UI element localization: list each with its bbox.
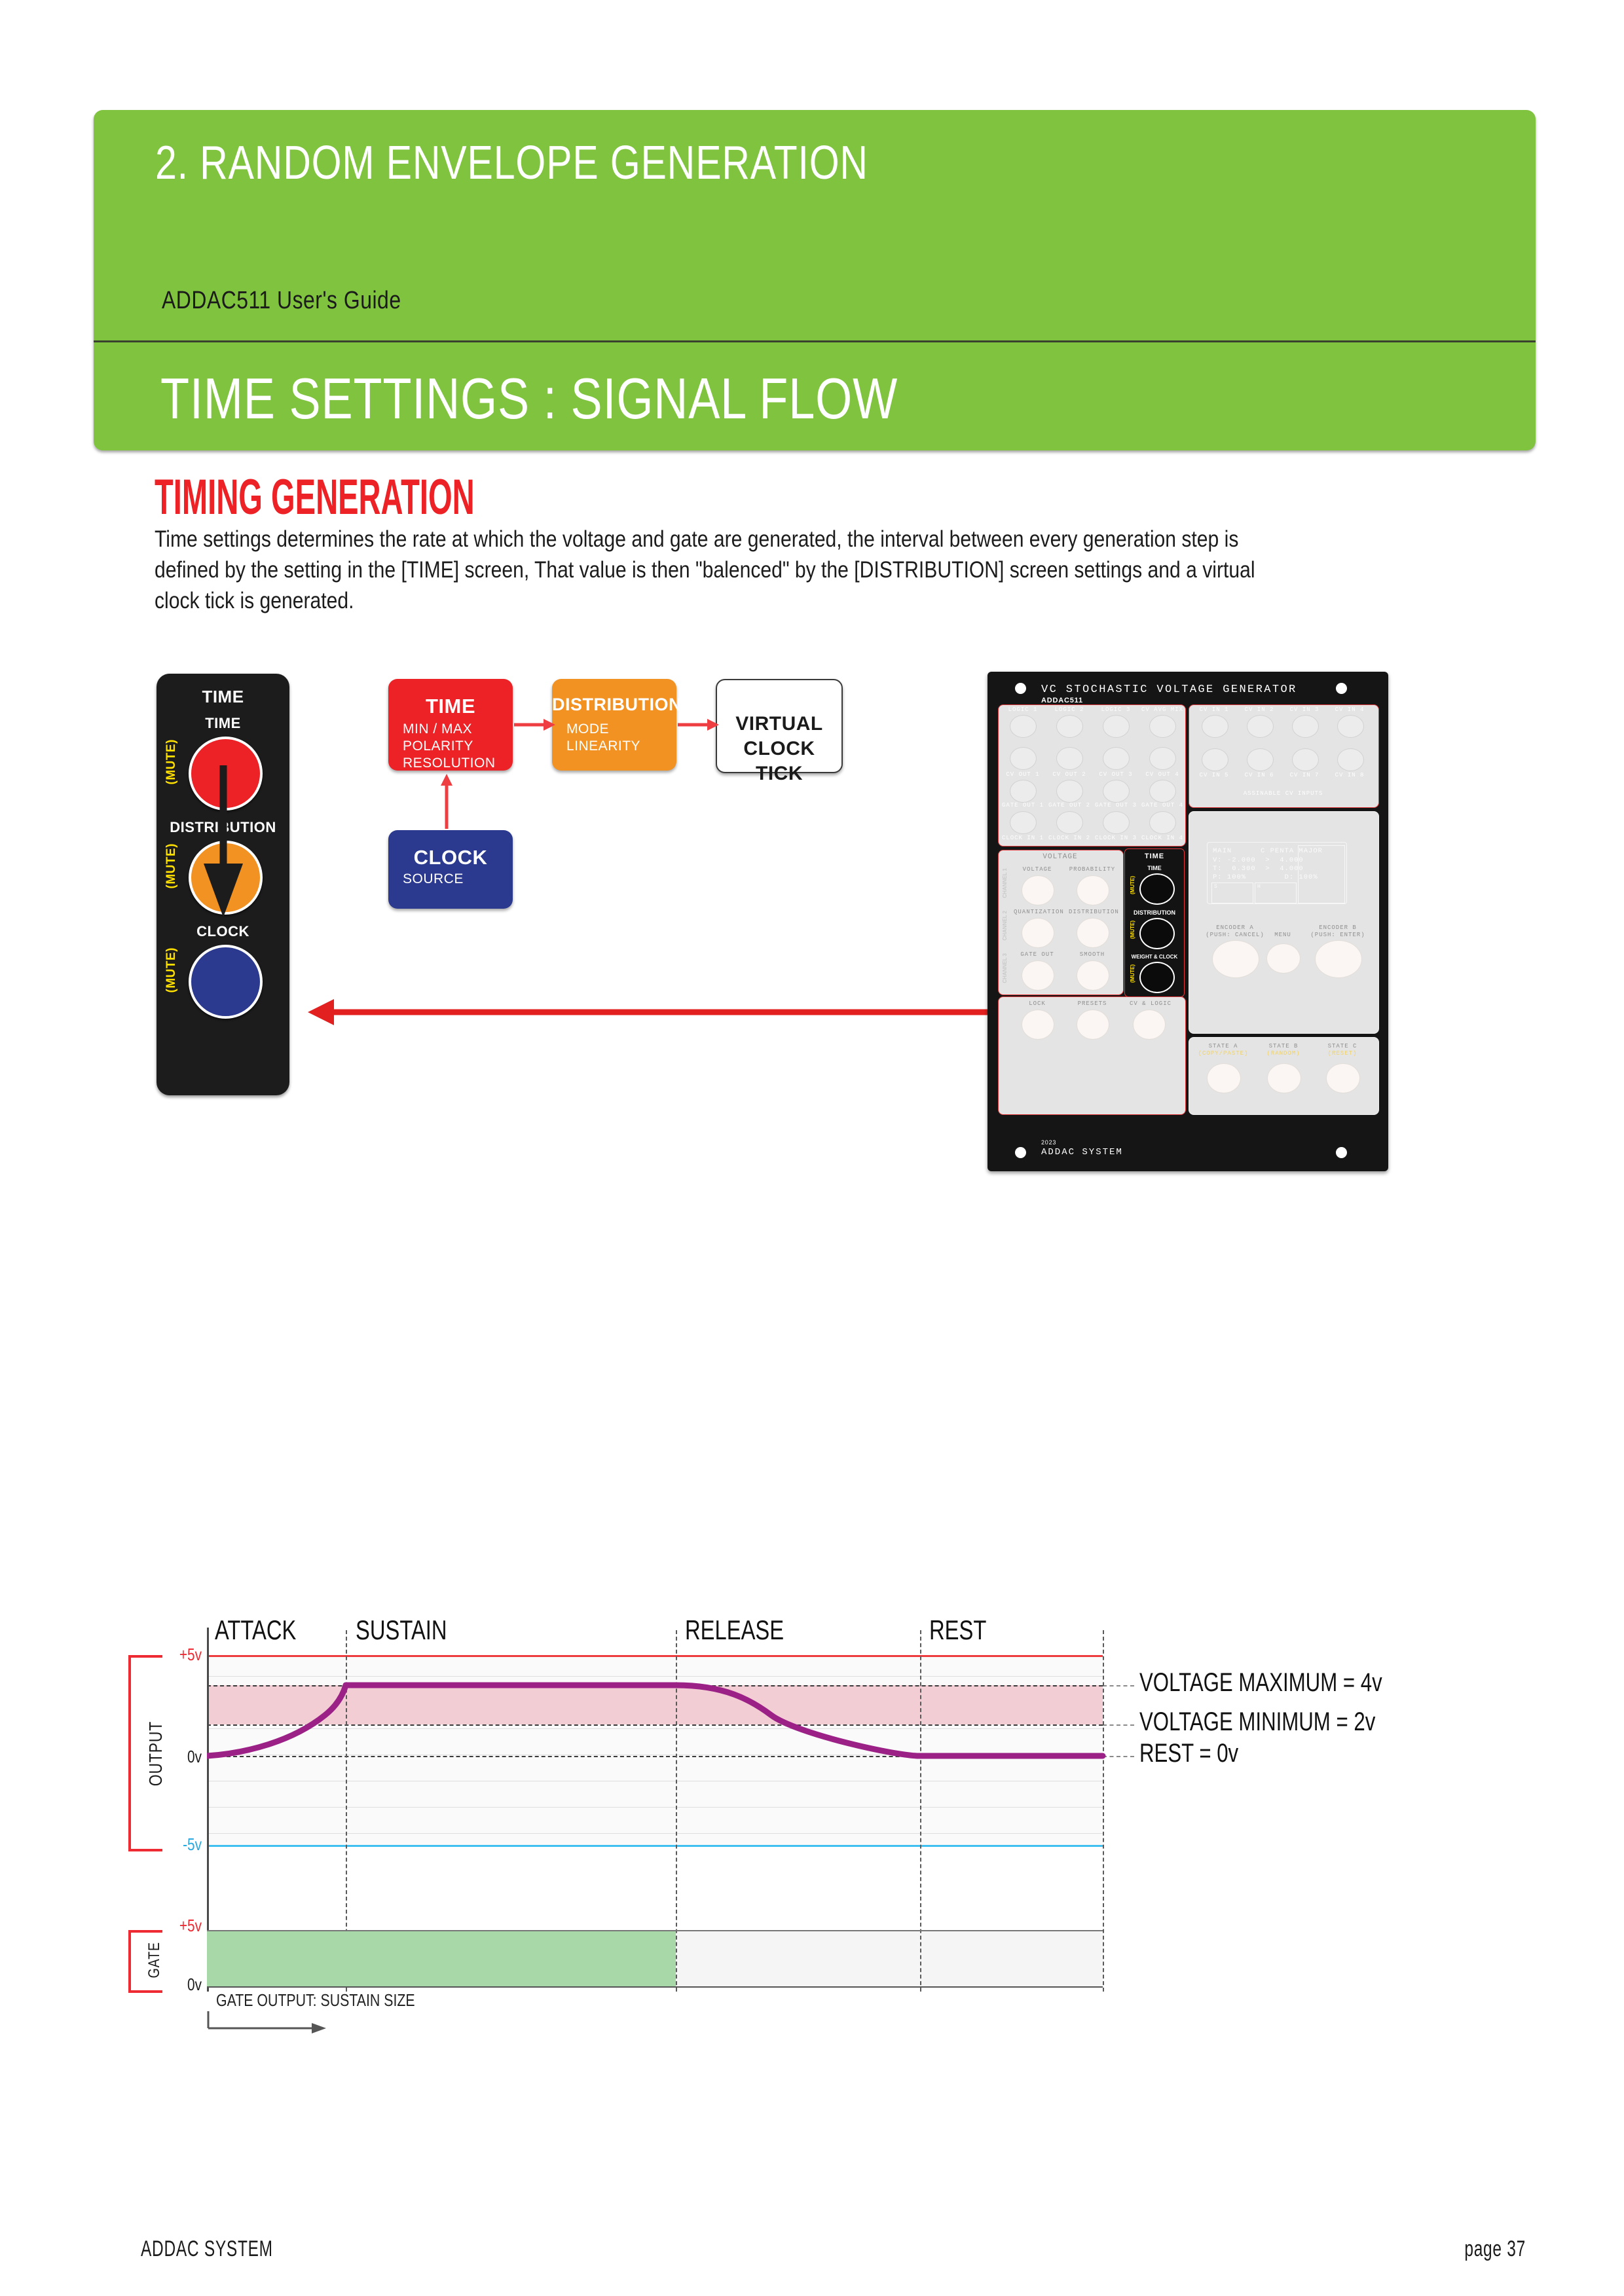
panel-label-cv-avg-mix: CV AVG MIX	[1140, 706, 1185, 713]
panel-label-cv-out-1: CV OUT 1	[1001, 771, 1045, 778]
flow-box-time-sub: MIN / MAX POLARITY RESOLUTION	[403, 721, 496, 772]
panel-label-encoder-b: ENCODER B	[1306, 924, 1369, 931]
flow-box-clock: CLOCK SOURCE	[388, 830, 513, 909]
flow-box-virtual-lines: VIRTUAL CLOCK TICK	[717, 712, 841, 786]
panel-label-logic-2: LOGIC 2	[1047, 706, 1092, 713]
panel-bottom-left-group	[998, 996, 1186, 1115]
panel-label-cv-out-4: CV OUT 4	[1140, 771, 1185, 778]
lcd-small-s: S	[1214, 884, 1218, 890]
panel-time-knob-distribution[interactable]	[1139, 918, 1175, 949]
flow-box-virtual-clock-tick: VIRTUAL CLOCK TICK	[716, 679, 843, 773]
panel-model: ADDAC511	[1041, 697, 1083, 704]
panel-title: VC STOCHASTIC VOLTAGE GENERATOR	[1041, 683, 1297, 696]
panel-label-voltage: VOLTAGE	[1014, 866, 1061, 873]
panel-label-state-c: STATE C	[1315, 1043, 1370, 1049]
chart-annotation-voltage-minimum: VOLTAGE MINIMUM = 2v	[1139, 1707, 1375, 1737]
panel-jack-gate-out-1[interactable]	[1010, 780, 1037, 803]
panel-time-mute-1: (MUTE)	[1130, 876, 1135, 894]
flow-line-virtual: VIRTUAL	[717, 712, 841, 737]
time-menu-strip: TIME TIME (MUTE) DISTRIBUTION (MUTE) CLO…	[157, 674, 289, 1095]
panel-right-lower-group	[1189, 811, 1379, 1034]
panel-knob-quantization[interactable]	[1022, 918, 1054, 948]
panel-label-cv-in-3: CV IN 3	[1283, 706, 1326, 713]
panel-label-menu: MENU	[1259, 932, 1306, 938]
chart-phase-label-rest: REST	[929, 1614, 986, 1646]
screw-bottom-right	[1336, 1147, 1347, 1158]
lcd-linearity-box	[1255, 883, 1297, 903]
panel-jack-logic-3[interactable]	[1103, 715, 1130, 738]
panel-label-state-a: STATE A	[1196, 1043, 1251, 1049]
panel-label-cv-in-6: CV IN 6	[1238, 772, 1281, 778]
panel-jack-cv-avg-mix[interactable]	[1149, 715, 1176, 738]
panel-encoder-a-knob[interactable]	[1212, 940, 1259, 978]
panel-label-gate-out-4: GATE OUT 4	[1140, 802, 1185, 809]
flow-sub-resolution: RESOLUTION	[403, 755, 496, 772]
panel-jack-gate-out-2[interactable]	[1056, 780, 1083, 803]
strip-mute-clock: (MUTE)	[164, 947, 179, 993]
chart-ytick-output-plus5v: +5v	[166, 1645, 202, 1665]
panel-encoder-b-knob[interactable]	[1315, 940, 1362, 978]
flow-box-clock-sub: SOURCE	[403, 871, 464, 888]
panel-label-assignable-cv: ASSINABLE CV INPUTS	[1189, 790, 1378, 797]
panel-time-mute-2: (MUTE)	[1130, 920, 1135, 939]
panel-channel-4-label: CHANNEL 4	[1002, 1004, 1008, 1034]
panel-jack-cv-in-5[interactable]	[1202, 748, 1228, 771]
panel-label-state-a-sub: (COPY/PASTE)	[1196, 1050, 1251, 1057]
panel-jack-cv-out-3[interactable]	[1103, 747, 1130, 770]
panel-label-gate-out-knob: GATE OUT	[1014, 951, 1061, 958]
panel-label-cv-in-8: CV IN 8	[1328, 772, 1371, 778]
flow-box-distribution: DISTRIBUTION MODE LINEARITY	[552, 679, 676, 771]
chart-gate-caption: GATE OUTPUT: SUSTAIN SIZE	[216, 1990, 415, 2011]
panel-knob-lock[interactable]	[1022, 1010, 1054, 1040]
panel-jack-cv-out-2[interactable]	[1056, 747, 1083, 770]
panel-label-gate-out-1: GATE OUT 1	[1001, 802, 1045, 809]
chart-gate-top-line	[207, 1930, 1103, 1931]
panel-states-group	[1189, 1037, 1379, 1115]
chart-annotation-voltage-maximum: VOLTAGE MAXIMUM = 4v	[1139, 1668, 1382, 1698]
panel-jack-cv-out-4[interactable]	[1149, 747, 1176, 770]
panel-jack-cv-in-1[interactable]	[1202, 715, 1228, 738]
lcd-line-4: P: 100% D: 100%	[1213, 873, 1318, 881]
chart-ytick-gate-plus5v: +5v	[166, 1916, 202, 1936]
panel-jack-logic-2[interactable]	[1056, 715, 1083, 738]
chart-output-axis-label: OUTPUT	[145, 1721, 166, 1786]
panel-time-knob-weight-clock[interactable]	[1139, 962, 1175, 993]
panel-label-state-c-sub: (RESET)	[1315, 1050, 1370, 1057]
strip-knob-label-time: TIME	[157, 715, 289, 732]
strip-knob-label-distribution: DISTRIBUTION	[157, 819, 289, 836]
panel-time-knob-label-weight-clock: WEIGHT & CLOCK	[1125, 954, 1184, 960]
panel-cv-inputs-group	[1189, 704, 1379, 808]
panel-label-encoder-a: ENCODER A	[1204, 924, 1266, 931]
panel-label-gate-out-2: GATE OUT 2	[1047, 802, 1092, 809]
chart-gate-high-fill	[207, 1930, 676, 1988]
flow-box-distribution-sub: MODE LINEARITY	[566, 721, 640, 755]
panel-label-quantization: QUANTIZATION	[1014, 909, 1063, 915]
panel-state-c-knob[interactable]	[1326, 1063, 1360, 1093]
panel-io-left-group	[998, 704, 1186, 847]
panel-jack-clock-in-4[interactable]	[1149, 811, 1176, 834]
strip-knob-label-clock: CLOCK	[157, 923, 289, 940]
chart-gate-axis-label: GATE	[145, 1942, 164, 1978]
panel-time-knob-label-distribution: DISTRIBUTION	[1125, 909, 1184, 916]
panel-label-cv-in-5: CV IN 5	[1192, 772, 1236, 778]
panel-label-voltage-section: VOLTAGE	[998, 853, 1122, 861]
panel-lcd-screen: MAIN C PENTA MAJOR V: -2.000 > 4.000 T: …	[1207, 842, 1347, 904]
panel-label-gate-out-3: GATE OUT 3	[1094, 802, 1138, 809]
timing-generation-heading: TIMING GENERATION	[155, 469, 475, 526]
panel-jack-cv-in-4[interactable]	[1337, 715, 1364, 738]
strip-knob-distribution[interactable]	[189, 841, 263, 915]
intro-paragraph: Time settings determines the rate at whi…	[155, 524, 1287, 616]
chart-phase-label-release: RELEASE	[685, 1614, 784, 1646]
section-title: TIME SETTINGS : SIGNAL FLOW	[160, 365, 898, 432]
lcd-channel-box	[1298, 845, 1345, 903]
panel-label-cv-out-2: CV OUT 2	[1047, 771, 1092, 778]
panel-jack-cv-in-7[interactable]	[1292, 748, 1319, 771]
panel-time-mute-3: (MUTE)	[1130, 964, 1135, 983]
panel-channel-2-label: CHANNEL 2	[1002, 911, 1008, 941]
strip-mute-time: (MUTE)	[164, 739, 179, 784]
panel-jack-cv-out-1[interactable]	[1010, 747, 1037, 770]
panel-label-distribution-knob: DISTRIBUTION	[1069, 909, 1118, 915]
panel-time-knob-time[interactable]	[1139, 873, 1175, 905]
footer-page-number: page 37	[1464, 2236, 1526, 2262]
strip-knob-clock[interactable]	[189, 945, 263, 1019]
flow-box-time-title: TIME	[388, 695, 513, 718]
header-divider	[94, 340, 1536, 342]
panel-label-encoder-a-push: (PUSH: CANCEL)	[1204, 932, 1266, 938]
panel-time-section: TIME TIME (MUTE) DISTRIBUTION (MUTE) WEI…	[1124, 848, 1185, 997]
flow-box-clock-title: CLOCK	[388, 846, 513, 869]
panel-knob-voltage[interactable]	[1022, 875, 1054, 905]
panel-label-clock-in-1: CLOCK IN 1	[1001, 835, 1045, 841]
panel-label-state-b-sub: (RANDOM)	[1256, 1050, 1311, 1057]
panel-jack-gate-out-4[interactable]	[1149, 780, 1176, 803]
flow-sub-polarity: POLARITY	[403, 738, 496, 755]
chart-ytick-gate-0v: 0v	[166, 1975, 202, 1995]
lcd-line-1: MAIN C PENTA MAJOR	[1213, 847, 1323, 855]
panel-knob-smooth[interactable]	[1077, 960, 1109, 991]
panel-label-cv-in-7: CV IN 7	[1283, 772, 1326, 778]
panel-knob-distribution[interactable]	[1077, 918, 1109, 948]
panel-jack-clock-in-2[interactable]	[1056, 811, 1083, 834]
panel-year: 2023	[1041, 1139, 1056, 1146]
lcd-small-h: H	[1257, 884, 1261, 890]
screw-top-right	[1336, 683, 1347, 694]
strip-mute-distribution: (MUTE)	[164, 843, 179, 888]
chart-envelope-curve	[207, 1637, 1124, 1899]
flow-sub-linearity: LINEARITY	[566, 738, 640, 755]
panel-label-state-b: STATE B	[1256, 1043, 1311, 1049]
panel-label-encoder-b-push: (PUSH: ENTER)	[1306, 932, 1369, 938]
strip-knob-time[interactable]	[189, 737, 263, 811]
screw-bottom-left	[1015, 1147, 1026, 1158]
panel-label-cv-in-1: CV IN 1	[1192, 706, 1236, 713]
panel-label-cv-out-3: CV OUT 3	[1094, 771, 1138, 778]
panel-label-cv-in-2: CV IN 2	[1238, 706, 1281, 713]
panel-label-logic-1: LOGIC 1	[1001, 706, 1045, 713]
chart-annotation-rest: REST = 0v	[1139, 1739, 1238, 1768]
panel-label-clock-in-4: CLOCK IN 4	[1140, 835, 1185, 841]
panel-menu-knob[interactable]	[1266, 943, 1301, 974]
chart-time-arrow-icon	[207, 2010, 403, 2049]
flow-sub-min-max: MIN / MAX	[403, 721, 496, 738]
guide-subtitle: ADDAC511 User's Guide	[162, 287, 401, 315]
panel-state-b-knob[interactable]	[1267, 1063, 1301, 1093]
panel-knob-probability[interactable]	[1077, 875, 1109, 905]
panel-label-cv-in-4: CV IN 4	[1328, 706, 1371, 713]
panel-label-clock-in-3: CLOCK IN 3	[1094, 835, 1138, 841]
lcd-line-3: T: 0.300 > 4.000	[1213, 865, 1304, 873]
panel-jack-cv-in-8[interactable]	[1337, 748, 1364, 771]
flow-box-distribution-title: DISTRIBUTION	[552, 695, 676, 715]
panel-label-probability: PROBABILITY	[1069, 866, 1116, 873]
chart-ytick-output-0v: 0v	[166, 1747, 202, 1767]
panel-voltage-group	[998, 850, 1124, 995]
flow-sub-source: SOURCE	[403, 871, 464, 888]
panel-channel-3-label: CHANNEL 3	[1002, 953, 1008, 983]
panel-jack-cv-in-3[interactable]	[1292, 715, 1319, 738]
panel-knob-presets[interactable]	[1077, 1010, 1109, 1040]
chart-ytick-output-minus5v: -5v	[166, 1834, 202, 1855]
lcd-histogram-box	[1211, 883, 1253, 903]
panel-knob-gate-out[interactable]	[1022, 960, 1054, 991]
panel-label-presets: PRESETS	[1069, 1000, 1116, 1007]
panel-label-logic-3: LOGIC 3	[1094, 706, 1138, 713]
panel-jack-clock-in-3[interactable]	[1103, 811, 1130, 834]
strip-title: TIME	[157, 687, 289, 707]
strip-flow-arrow-icon	[157, 674, 289, 1095]
panel-time-knob-label-time: TIME	[1125, 865, 1184, 871]
panel-state-a-knob[interactable]	[1207, 1063, 1241, 1093]
footer-brand: ADDAC SYSTEM	[141, 2236, 273, 2262]
screw-top-left	[1015, 683, 1026, 694]
flow-sub-mode: MODE	[566, 721, 640, 738]
panel-jack-gate-out-3[interactable]	[1103, 780, 1130, 803]
flow-box-time: TIME MIN / MAX POLARITY RESOLUTION	[388, 679, 513, 771]
page-root: 2. RANDOM ENVELOPE GENERATION ADDAC511 U…	[0, 0, 1624, 2296]
lcd-line-2: V: -2.000 > 4.000	[1213, 856, 1304, 864]
panel-label-lock: LOCK	[1014, 1000, 1061, 1007]
addac511-module-panel: VC STOCHASTIC VOLTAGE GENERATOR ADDAC511…	[987, 672, 1388, 1171]
panel-channel-1-label: CHANNEL 1	[1002, 868, 1008, 898]
panel-time-section-title: TIME	[1125, 852, 1184, 860]
panel-jack-cv-in-2[interactable]	[1247, 715, 1274, 738]
panel-label-clock-in-2: CLOCK IN 2	[1047, 835, 1092, 841]
panel-knob-cv-logic[interactable]	[1133, 1010, 1166, 1040]
chart-phase-label-sustain: SUSTAIN	[356, 1614, 447, 1646]
panel-jack-logic-1[interactable]	[1010, 715, 1037, 738]
panel-brand: ADDAC SYSTEM	[1041, 1147, 1123, 1157]
chart-phase-label-attack: ATTACK	[215, 1614, 296, 1646]
flow-line-clock: CLOCK	[717, 737, 841, 761]
page-header-banner: 2. RANDOM ENVELOPE GENERATION ADDAC511 U…	[94, 110, 1536, 450]
flow-line-tick: TICK	[717, 761, 841, 786]
chapter-title: 2. RANDOM ENVELOPE GENERATION	[155, 136, 868, 190]
panel-jack-clock-in-1[interactable]	[1010, 811, 1037, 834]
panel-label-smooth: SMOOTH	[1069, 951, 1116, 958]
chart-gate-bottom-line	[207, 1986, 1103, 1988]
panel-label-cv-logic: CV & LOGIC	[1124, 1000, 1177, 1007]
panel-jack-cv-in-6[interactable]	[1247, 748, 1274, 771]
